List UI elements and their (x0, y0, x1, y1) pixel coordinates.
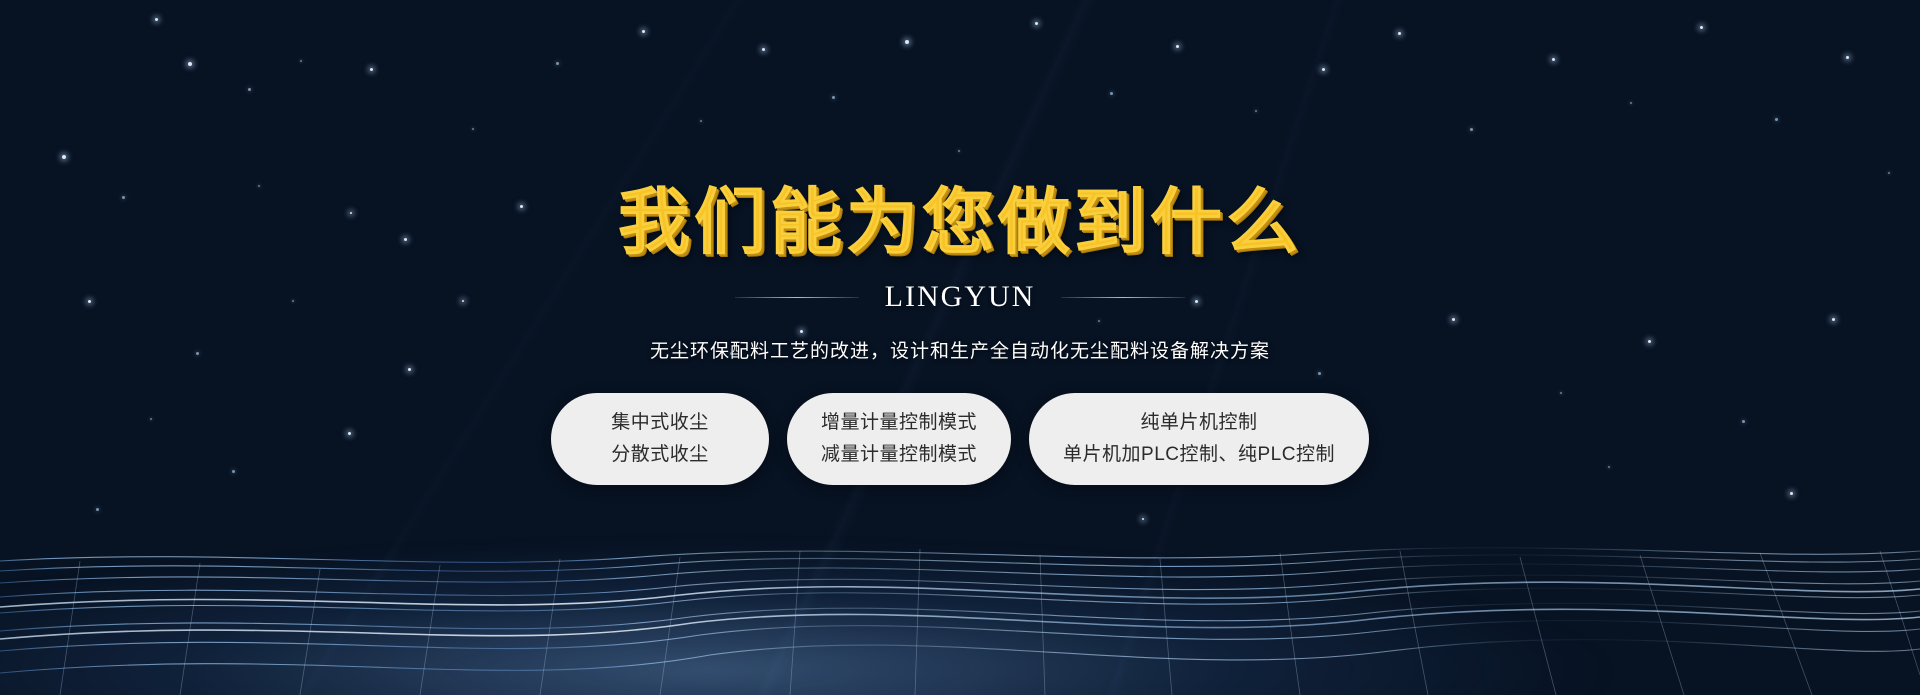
brand-name: LINGYUN (885, 280, 1036, 314)
banner-content: 我们能为您做到什么 LINGYUN 无尘环保配料工艺的改进，设计和生产全自动化无… (0, 0, 1920, 485)
pill-line: 集中式收尘 (585, 412, 735, 434)
pill-line: 纯单片机控制 (1063, 412, 1335, 434)
feature-pill-dust-collection[interactable]: 集中式收尘 分散式收尘 (551, 393, 769, 485)
tagline: 无尘环保配料工艺的改进，设计和生产全自动化无尘配料设备解决方案 (0, 336, 1920, 363)
right-divider-line (1061, 297, 1185, 298)
pill-line: 增量计量控制模式 (821, 412, 977, 434)
left-divider-line (735, 297, 859, 298)
brand-row: LINGYUN (0, 280, 1920, 314)
pill-line: 单片机加PLC控制、纯PLC控制 (1063, 444, 1335, 466)
pill-line: 分散式收尘 (585, 444, 735, 466)
page-title: 我们能为您做到什么 (0, 0, 1920, 258)
feature-pill-metering-control-mode[interactable]: 增量计量控制模式 减量计量控制模式 (787, 393, 1011, 485)
pill-line: 减量计量控制模式 (821, 444, 977, 466)
wave-mesh-svg (0, 465, 1920, 695)
hero-banner: 我们能为您做到什么 LINGYUN 无尘环保配料工艺的改进，设计和生产全自动化无… (0, 0, 1920, 695)
feature-pill-controller-type[interactable]: 纯单片机控制 单片机加PLC控制、纯PLC控制 (1029, 393, 1369, 485)
feature-pill-group: 集中式收尘 分散式收尘 增量计量控制模式 减量计量控制模式 纯单片机控制 单片机… (0, 393, 1920, 485)
particle-wave-graphic (0, 465, 1920, 695)
